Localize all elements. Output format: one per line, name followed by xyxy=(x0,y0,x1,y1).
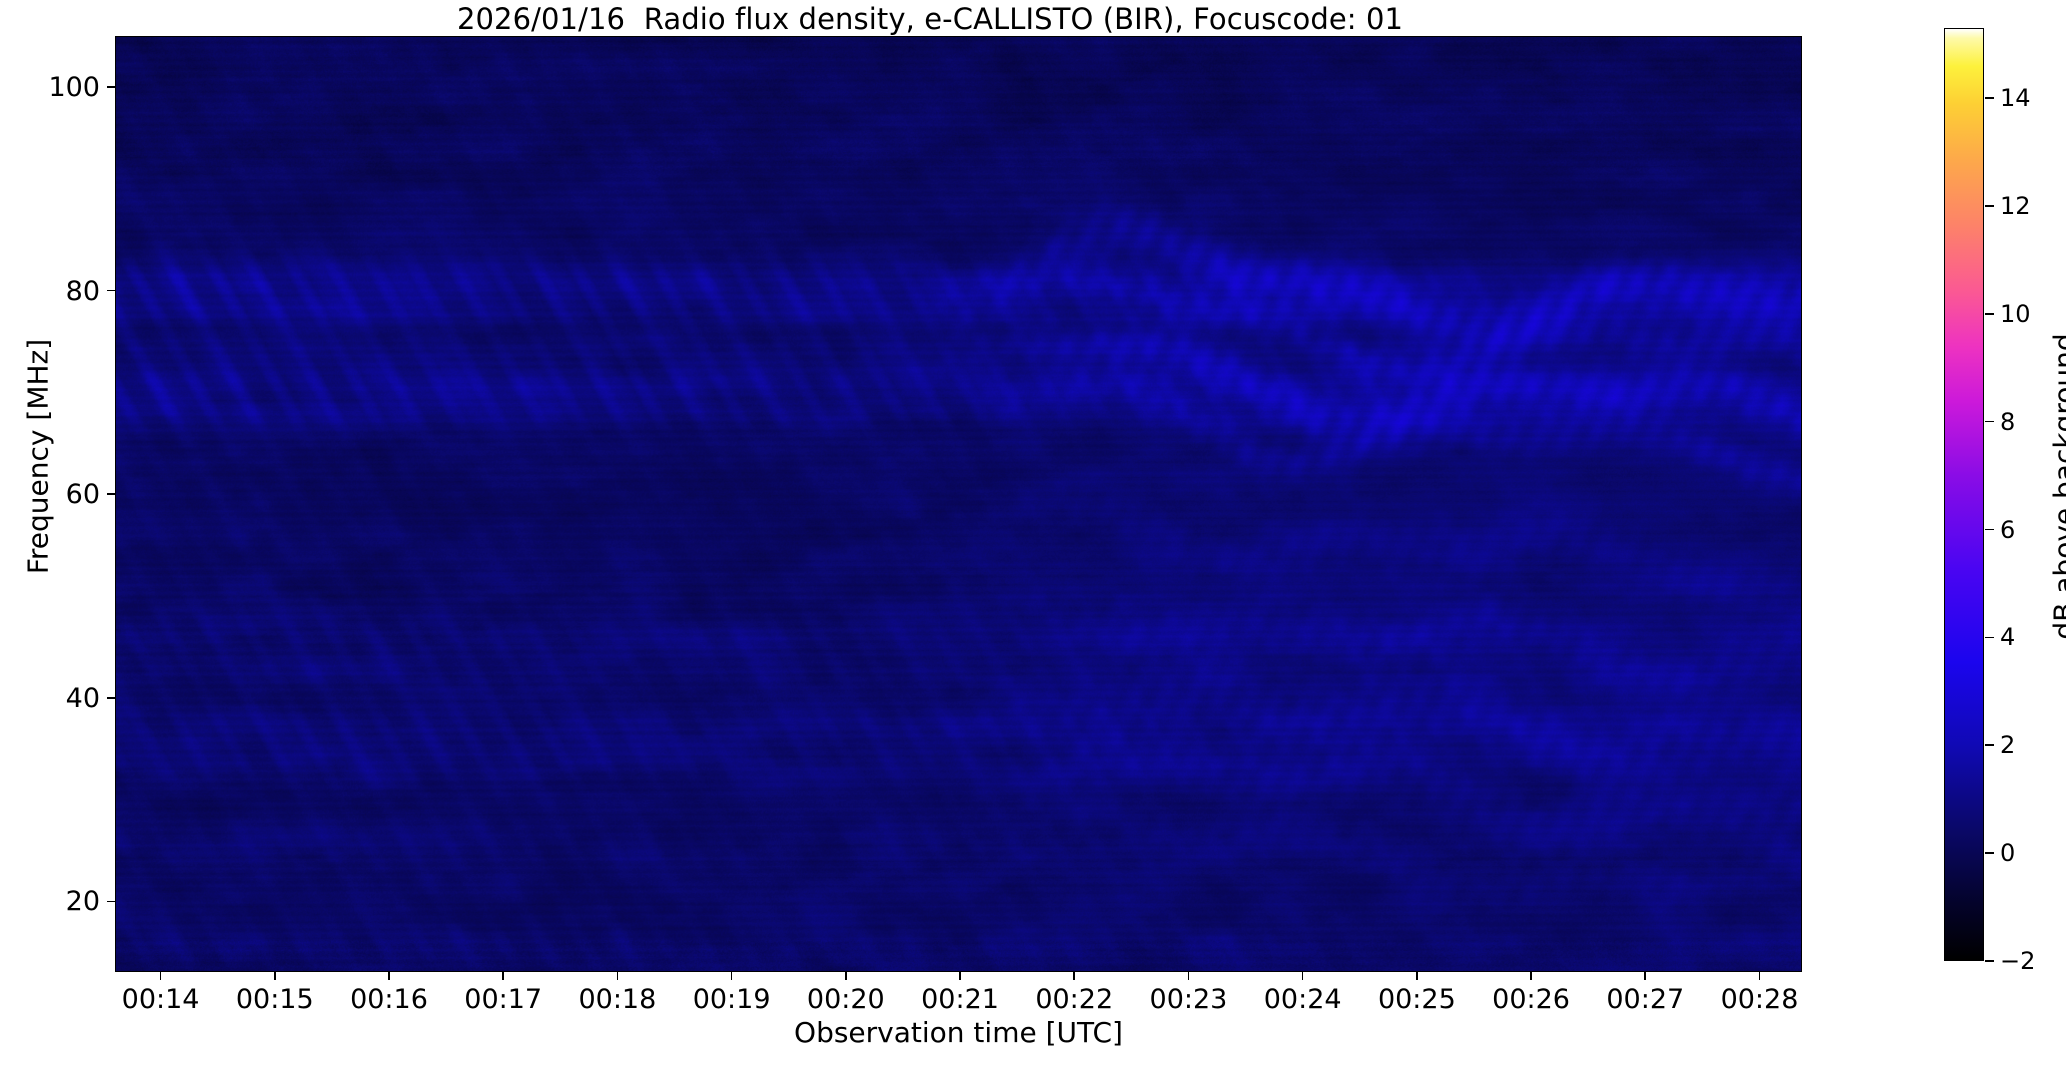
colorbar-tick-label: 10 xyxy=(2000,302,2031,326)
colorbar[interactable] xyxy=(1944,28,1984,961)
colorbar-tick-mark xyxy=(1985,852,1994,854)
x-tick-mark xyxy=(959,972,961,980)
colorbar-tick-mark xyxy=(1985,97,1994,99)
colorbar-tick-label: 12 xyxy=(2000,194,2031,218)
colorbar-tick-label: 2 xyxy=(2000,733,2015,757)
y-tick-mark xyxy=(107,290,115,292)
spectrogram-plot-area[interactable] xyxy=(115,36,1802,972)
y-axis-label: Frequency [MHz] xyxy=(22,147,55,767)
x-tick-mark xyxy=(1530,972,1532,980)
x-tick-mark xyxy=(1759,972,1761,980)
x-tick-label: 00:21 xyxy=(900,986,1020,1013)
x-tick-mark xyxy=(1416,972,1418,980)
x-tick-mark xyxy=(1302,972,1304,980)
x-tick-label: 00:24 xyxy=(1243,986,1363,1013)
x-tick-mark xyxy=(617,972,619,980)
colorbar-tick-label: −2 xyxy=(2000,949,2035,973)
colorbar-tick-label: 8 xyxy=(2000,410,2015,434)
colorbar-tick-label: 4 xyxy=(2000,625,2015,649)
x-tick-mark xyxy=(731,972,733,980)
colorbar-tick-label: 14 xyxy=(2000,86,2031,110)
x-tick-mark xyxy=(845,972,847,980)
colorbar-tick-mark xyxy=(1985,960,1994,962)
y-tick-label: 40 xyxy=(20,685,100,712)
colorbar-tick-label: 6 xyxy=(2000,518,2015,542)
x-tick-label: 00:20 xyxy=(786,986,906,1013)
colorbar-tick-mark xyxy=(1985,313,1994,315)
colorbar-tick-mark xyxy=(1985,529,1994,531)
x-tick-mark xyxy=(1073,972,1075,980)
y-tick-mark xyxy=(107,86,115,88)
x-tick-mark xyxy=(1188,972,1190,980)
colorbar-tick-mark xyxy=(1985,744,1994,746)
y-tick-mark xyxy=(107,901,115,903)
colorbar-tick-mark xyxy=(1985,637,1994,639)
x-tick-label: 00:26 xyxy=(1471,986,1591,1013)
x-tick-label: 00:15 xyxy=(215,986,335,1013)
colorbar-tick-label: 0 xyxy=(2000,841,2015,865)
x-tick-mark xyxy=(502,972,504,980)
x-tick-label: 00:27 xyxy=(1585,986,1705,1013)
y-tick-label: 100 xyxy=(20,74,100,101)
y-tick-mark xyxy=(107,493,115,495)
chart-title: 2026/01/16 Radio flux density, e-CALLIST… xyxy=(0,2,1860,36)
x-tick-label: 00:23 xyxy=(1128,986,1248,1013)
colorbar-label: dB above background xyxy=(2048,207,2066,767)
spectrogram-image xyxy=(116,37,1801,971)
y-tick-mark xyxy=(107,697,115,699)
x-tick-label: 00:22 xyxy=(1014,986,1134,1013)
x-tick-label: 00:18 xyxy=(557,986,677,1013)
x-tick-mark xyxy=(160,972,162,980)
colorbar-tick-mark xyxy=(1985,205,1994,207)
x-tick-label: 00:16 xyxy=(329,986,449,1013)
x-tick-mark xyxy=(1644,972,1646,980)
colorbar-tick-mark xyxy=(1985,421,1994,423)
y-tick-label: 20 xyxy=(20,888,100,915)
x-tick-label: 00:25 xyxy=(1357,986,1477,1013)
x-tick-label: 00:17 xyxy=(443,986,563,1013)
colorbar-gradient xyxy=(1945,29,1983,960)
y-tick-label: 60 xyxy=(20,481,100,508)
x-tick-label: 00:14 xyxy=(101,986,221,1013)
x-axis-label: Observation time [UTC] xyxy=(115,1016,1802,1049)
x-tick-mark xyxy=(388,972,390,980)
x-tick-mark xyxy=(274,972,276,980)
y-tick-label: 80 xyxy=(20,278,100,305)
x-tick-label: 00:19 xyxy=(672,986,792,1013)
x-tick-label: 00:28 xyxy=(1699,986,1819,1013)
